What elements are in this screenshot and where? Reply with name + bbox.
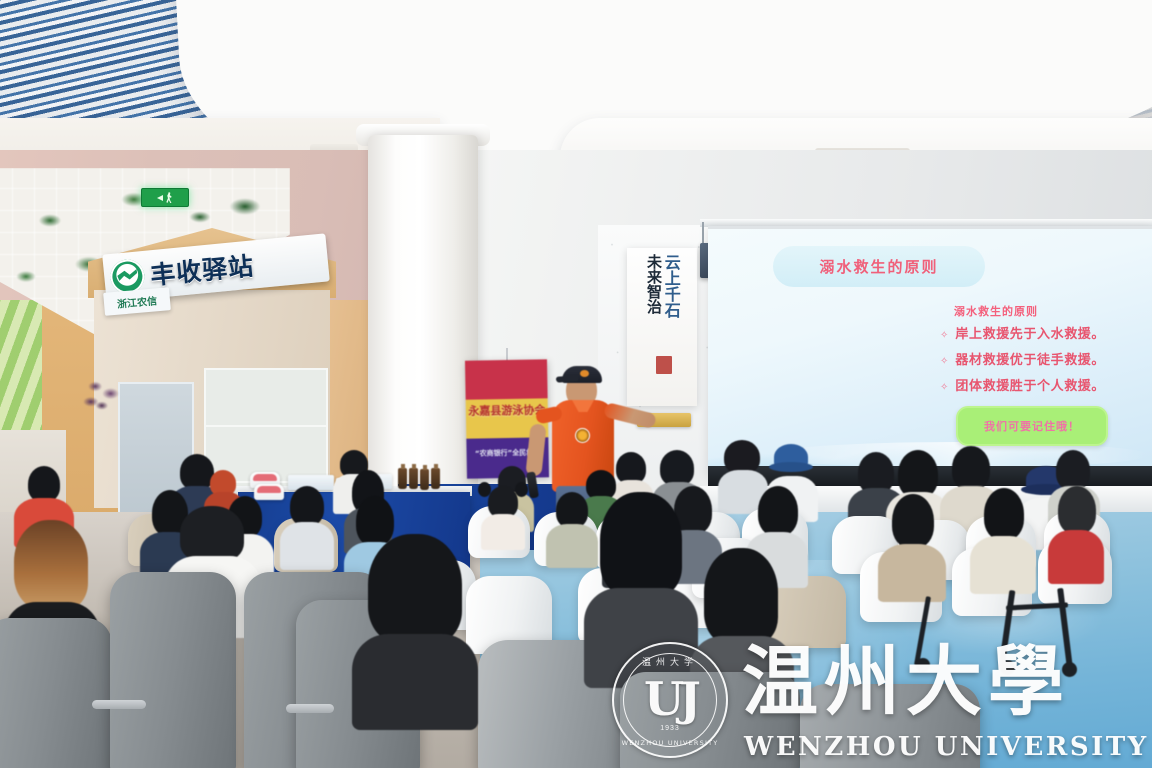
booth-sign-text: 丰收驿站 (149, 246, 256, 292)
slide-bullet-text: 器材救援优于徒手救援。 (955, 354, 1105, 369)
scroll-columns: 云上千石 未来智治 (645, 254, 679, 406)
red-seal-icon (656, 356, 672, 374)
brown-bottle (398, 468, 407, 489)
grey-chair-foreground (620, 672, 800, 768)
stroller-wheel (1000, 660, 1015, 675)
grey-chair-foreground (800, 684, 980, 768)
chair-armrest (92, 700, 146, 709)
flag-organization-text: 永嘉县游泳协会 (468, 401, 546, 418)
stroller-wheel (916, 658, 930, 672)
chair-armrest (286, 704, 334, 713)
stroller-wheel (1062, 662, 1077, 677)
hanging-purple-plant (82, 372, 126, 420)
scroll-line-right: 云上千石 (662, 254, 679, 406)
slide-title: 溺水救生的原则 (819, 256, 938, 277)
slide-bullet: ✧ 岸上救援先于入水救援。 (940, 328, 1146, 343)
running-man-icon (166, 192, 173, 203)
slide-subtitle: 溺水救生的原则 (954, 303, 1146, 319)
grey-chair-foreground (110, 572, 236, 768)
brown-bottle (431, 468, 440, 489)
exit-arrow-icon (157, 195, 163, 201)
slide-callout-box: 我们可要记住哦！ (956, 406, 1108, 446)
left-green-graphic-panel (0, 300, 42, 450)
slide-bullet: ✧ 器材救援优于徒手救援。 (940, 354, 1146, 369)
presenter-cap-logo-icon (580, 370, 589, 377)
exit-sign (141, 188, 189, 207)
slide-bullet-text: 岸上救援先于入水救援。 (955, 328, 1105, 343)
slide-body: 溺水救生的原则 ✧ 岸上救援先于入水救援。 ✧ 器材救援优于徒手救援。 ✧ 团体… (940, 303, 1146, 406)
photograph-drowning-rescue-lecture: 丰收驿站 浙江农信 云上千石 未来智治 溺水救生的原则 溺水救生的原则 ✧ (0, 0, 1152, 768)
slide-bullet-text: 团体救援胜于个人救援。 (955, 380, 1105, 395)
brown-bottle (420, 469, 429, 490)
calligraphy-scroll-banner: 云上千石 未来智治 (627, 248, 697, 406)
projection-screen: 溺水救生的原则 溺水救生的原则 ✧ 岸上救援先于入水救援。 ✧ 器材救援优于徒手… (708, 226, 1152, 474)
presenter-chest-badge (575, 428, 590, 443)
diamond-bullet-icon: ✧ (940, 329, 948, 343)
slide-title-pill: 溺水救生的原则 (773, 246, 985, 287)
slide-callout-text: 我们可要记住哦！ (984, 418, 1080, 434)
grey-chair-foreground (0, 618, 112, 768)
diamond-bullet-icon: ✧ (940, 355, 948, 369)
projected-slide: 溺水救生的原则 溺水救生的原则 ✧ 岸上救援先于入水救援。 ✧ 器材救援优于徒手… (708, 229, 1152, 474)
dental-model (254, 484, 284, 500)
slide-bullet: ✧ 团体救援胜于个人救援。 (940, 380, 1146, 395)
scroll-line-left: 未来智治 (645, 254, 661, 406)
diamond-bullet-icon: ✧ (940, 381, 948, 395)
brown-bottle (409, 468, 418, 489)
